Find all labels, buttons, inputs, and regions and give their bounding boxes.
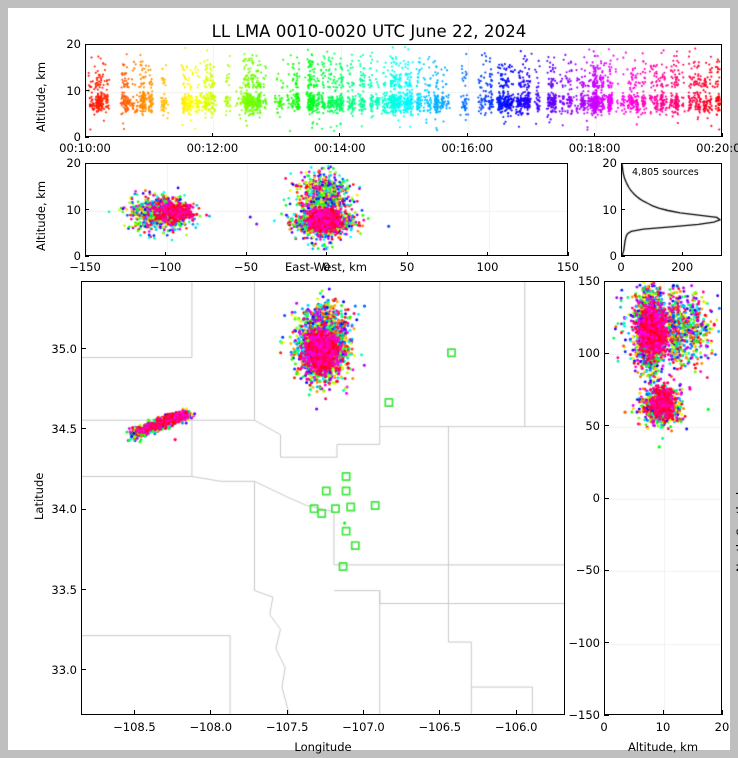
east-west-ytick: 20	[63, 156, 81, 170]
tick-mark	[81, 509, 86, 510]
tick-mark	[604, 425, 609, 426]
tick-mark	[621, 256, 625, 257]
tick-mark	[407, 252, 408, 256]
tick-mark	[621, 163, 625, 164]
north-south-xtick: 10	[656, 720, 671, 734]
histogram-ytick: 10	[599, 203, 617, 217]
histogram-ytick: 0	[599, 249, 617, 263]
figure-root: LL LMA 0010-0020 UTC June 22, 2024 Altit…	[0, 0, 738, 758]
tick-mark	[568, 252, 569, 256]
north-south-ytick: −150	[566, 708, 600, 722]
tick-mark	[85, 44, 89, 45]
time-height-xtick: 00:14:00	[314, 141, 366, 155]
time-height-xtick: 00:20:00	[696, 141, 738, 155]
tick-mark	[722, 133, 723, 137]
east-west-height-panel[interactable]	[85, 163, 568, 256]
histogram-xtick: 200	[671, 260, 693, 274]
tick-mark	[85, 209, 89, 210]
north-south-xtick: 20	[715, 720, 730, 734]
east-west-ytick: 0	[63, 249, 81, 263]
east-west-xtick: 150	[557, 260, 579, 274]
east-west-xtick: −100	[150, 260, 182, 274]
tick-mark	[165, 252, 166, 256]
map-xtick: −108.0	[189, 720, 232, 734]
altitude-histogram-panel[interactable]: 4,805 sources	[621, 163, 722, 256]
tick-mark	[594, 133, 595, 137]
tick-mark	[85, 90, 89, 91]
tick-mark	[85, 256, 89, 257]
tick-mark	[81, 428, 86, 429]
tick-mark	[81, 589, 86, 590]
tick-mark	[604, 353, 609, 354]
tick-mark	[287, 710, 288, 715]
north-south-ytick: 100	[566, 346, 600, 360]
north-south-ytick: 150	[566, 274, 600, 288]
north-south-xtick: 0	[600, 720, 607, 734]
tick-mark	[604, 715, 609, 716]
tick-mark	[134, 710, 135, 715]
time-height-xtick: 00:16:00	[441, 141, 493, 155]
tick-mark	[621, 209, 625, 210]
source-count-annotation: 4,805 sources	[632, 167, 699, 178]
tick-mark	[246, 252, 247, 256]
map-ylabel: Latitude	[32, 473, 46, 520]
tick-mark	[339, 133, 340, 137]
tick-mark	[363, 710, 364, 715]
tick-mark	[439, 710, 440, 715]
tick-mark	[210, 710, 211, 715]
map-ytick: 34.0	[47, 502, 77, 516]
tick-mark	[81, 348, 86, 349]
map-xtick: −108.5	[113, 720, 156, 734]
time-height-ylabel: Altitude, km	[34, 62, 48, 132]
time-height-ytick: 0	[63, 130, 81, 144]
north-south-ytick: 0	[566, 491, 600, 505]
north-south-ytick: 50	[566, 419, 600, 433]
time-height-xtick: 00:12:00	[187, 141, 239, 155]
north-south-ytick: −100	[566, 636, 600, 650]
tick-mark	[604, 498, 609, 499]
tick-mark	[663, 710, 664, 715]
time-height-xtick: 00:18:00	[569, 141, 621, 155]
north-south-xlabel: Altitude, km	[628, 740, 698, 754]
map-xtick: −106.0	[495, 720, 538, 734]
map-xlabel: Longitude	[294, 740, 351, 754]
figure-title: LL LMA 0010-0020 UTC June 22, 2024	[8, 22, 730, 41]
map-ytick: 33.0	[47, 663, 77, 677]
tick-mark	[604, 281, 609, 282]
map-ytick: 33.5	[47, 583, 77, 597]
tick-mark	[212, 133, 213, 137]
map-ytick: 34.5	[47, 422, 77, 436]
east-west-ylabel: Altitude, km	[34, 181, 48, 251]
tick-mark	[604, 642, 609, 643]
map-ytick: 35.0	[47, 342, 77, 356]
east-west-xtick: 50	[400, 260, 415, 274]
north-south-height-panel[interactable]	[604, 281, 722, 715]
tick-mark	[85, 137, 89, 138]
tick-mark	[487, 252, 488, 256]
tick-mark	[604, 570, 609, 571]
tick-mark	[81, 669, 86, 670]
map-xtick: −106.5	[419, 720, 462, 734]
map-xtick: −107.0	[342, 720, 385, 734]
east-west-xtick: 100	[477, 260, 499, 274]
east-west-ytick: 10	[63, 203, 81, 217]
time-height-ytick: 10	[63, 84, 81, 98]
tick-mark	[722, 710, 723, 715]
tick-mark	[326, 252, 327, 256]
tick-mark	[467, 133, 468, 137]
histogram-ytick: 20	[599, 156, 617, 170]
east-west-xtick: 0	[323, 260, 330, 274]
plan-view-map-panel[interactable]	[81, 281, 565, 715]
time-height-ytick: 20	[63, 37, 81, 51]
tick-mark	[682, 252, 683, 256]
time-height-panel[interactable]	[85, 44, 722, 137]
tick-mark	[516, 710, 517, 715]
map-xtick: −107.5	[266, 720, 309, 734]
east-west-xtick: −50	[234, 260, 258, 274]
histogram-xtick: 0	[617, 260, 624, 274]
north-south-ytick: −50	[566, 563, 600, 577]
tick-mark	[85, 163, 89, 164]
north-south-ylabel: North-South, km	[734, 477, 738, 572]
